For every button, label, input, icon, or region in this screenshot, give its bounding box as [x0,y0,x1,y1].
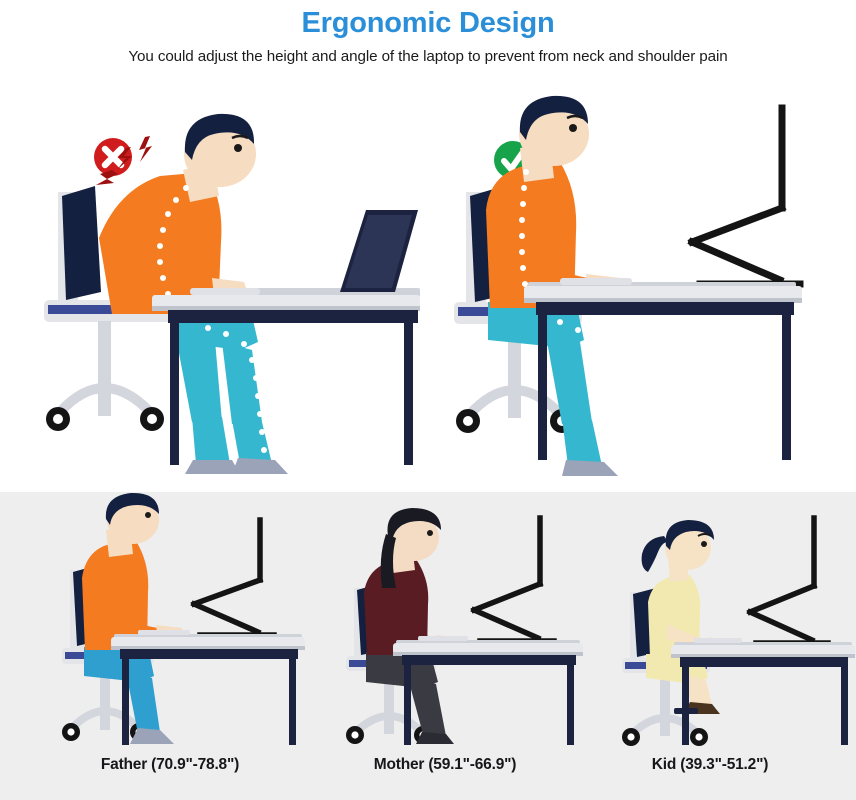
figure-father [8,492,308,750]
page-title: Ergonomic Design [0,6,856,40]
comparison-panel [0,92,856,492]
person-father [82,493,185,744]
person-mother [364,508,463,744]
good-posture-scene [428,92,856,492]
figure-mother [296,492,586,750]
caption-row: Father (70.9"-78.8") Mother (59.1"-66.9"… [0,750,856,800]
page-subtitle: You could adjust the height and angle of… [0,46,856,68]
bad-posture-scene [0,92,428,492]
header: Ergonomic Design You could adjust the he… [0,0,856,68]
figure-kid [578,492,856,750]
footrest-bar [674,708,698,714]
caption-father: Father (70.9"-78.8") [40,756,300,774]
z-shape-laptop-stand [692,108,800,284]
ergonomic-design-infographic: Ergonomic Design You could adjust the he… [0,0,856,800]
caption-mother: Mother (59.1"-66.9") [320,756,570,774]
family-height-panel: Father (70.9"-78.8") Mother (59.1"-66.9"… [0,492,856,800]
caption-kid: Kid (39.3"-51.2") [590,756,830,774]
